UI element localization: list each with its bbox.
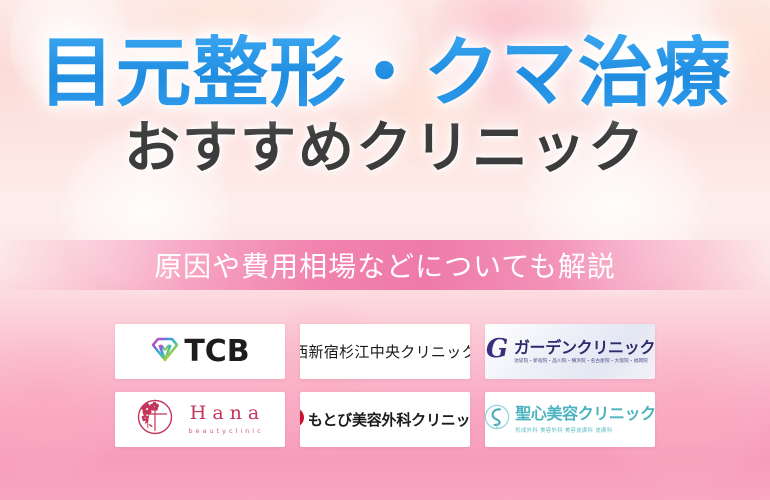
- clinic-name-hana-beauty-clinic: Hana: [184, 404, 265, 423]
- bokeh-circle: [0, 330, 120, 490]
- clinic-name-tcb: TCB: [184, 334, 249, 369]
- cherry-blossom-circle-icon: [135, 397, 175, 442]
- page-subtitle: おすすめクリニック: [0, 118, 770, 178]
- headline-block: 目元整形・クマ治療 おすすめクリニック: [0, 34, 770, 178]
- clinic-logo-card-tcb[interactable]: TCB: [115, 324, 285, 379]
- clinic-branches-garden-clinic: 池袋院・新宿院・品川院・横浜院・名古屋院・大阪院・福岡院: [514, 358, 648, 364]
- clinic-name-garden-clinic: ガーデンクリニック: [514, 339, 655, 357]
- script-g-icon: G: [485, 334, 509, 369]
- clinic-departments-seishin-beauty-clinic: 形成外科 美容外科 美容皮膚科 皮膚科: [515, 426, 612, 434]
- clinic-name-seishin-beauty-clinic: 聖心美容クリニック: [515, 405, 655, 423]
- clinic-promo-banner: 目元整形・クマ治療 おすすめクリニック 原因や費用相場などについても解説: [0, 0, 770, 500]
- clinic-tagline-hana-beauty-clinic: beautyclinic: [185, 427, 263, 435]
- subtitle-text: 原因や費用相場などについても解説: [154, 245, 616, 285]
- page-title: 目元整形・クマ治療: [0, 34, 770, 112]
- clinic-logo-grid: TCB 西新宿杉江中央クリニック G ガーデンクリニック: [115, 324, 655, 447]
- clinic-name-motobi: もとび美容外科クリニック: [308, 409, 470, 430]
- clinic-logo-card-motobi[interactable]: もとび美容外科クリニック: [300, 392, 470, 447]
- red-circle-mark-icon: [300, 408, 304, 432]
- swan-circle-icon: [485, 403, 510, 436]
- svg-text:G: G: [486, 334, 508, 364]
- clinic-logo-card-hana-beauty-clinic[interactable]: Hana beautyclinic: [115, 392, 285, 447]
- clinic-name-nishishinjuku-sugie: 西新宿杉江中央クリニック: [300, 341, 470, 362]
- clinic-logo-card-garden-clinic[interactable]: G ガーデンクリニック 池袋院・新宿院・品川院・横浜院・名古屋院・大阪院・福岡院: [485, 324, 655, 379]
- clinic-logo-card-seishin-beauty-clinic[interactable]: 聖心美容クリニック 形成外科 美容外科 美容皮膚科 皮膚科: [485, 392, 655, 447]
- rainbow-diamond-icon: [150, 336, 180, 368]
- clinic-logo-card-nishishinjuku-sugie[interactable]: 西新宿杉江中央クリニック: [300, 324, 470, 379]
- subtitle-band: 原因や費用相場などについても解説: [0, 240, 770, 290]
